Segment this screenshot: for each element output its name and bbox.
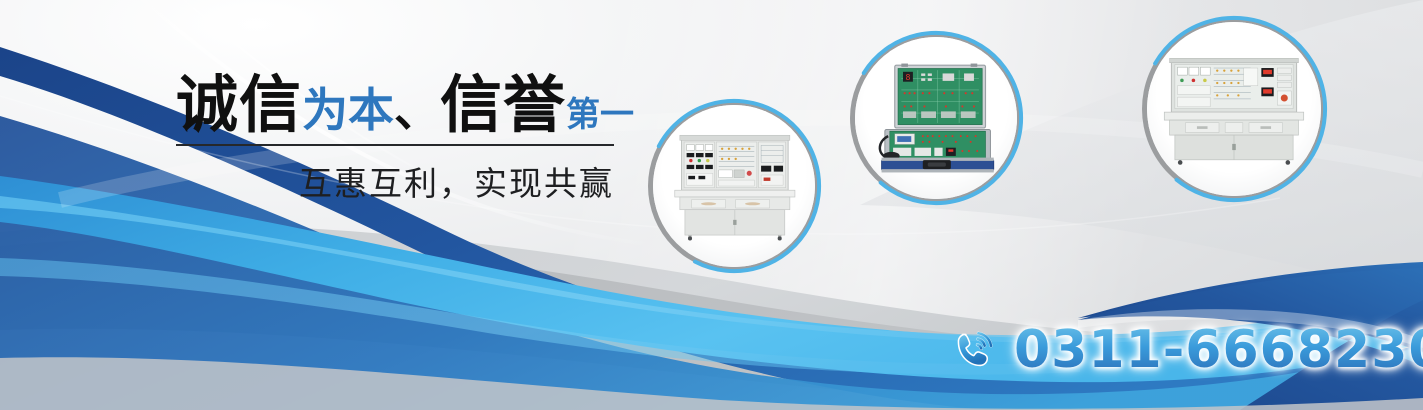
- headline-part-4: 第一: [566, 95, 634, 135]
- headline-part-2: 为本: [302, 83, 394, 137]
- headline: 诚信为本、信誉第一: [176, 74, 634, 136]
- subtitle: 互惠互利，实现共赢: [176, 157, 614, 205]
- product-circle-3-outer-ring: [1134, 9, 1334, 209]
- product-circle-1-outer-ring: [640, 92, 828, 280]
- contact-phone[interactable]: 0311-66682303: [952, 320, 1423, 380]
- product-circle-2-outer-ring: [842, 24, 1030, 212]
- headline-part-1: 诚信: [176, 68, 302, 141]
- headline-divider: [176, 144, 614, 146]
- headline-punctuation: 、: [394, 83, 440, 137]
- promo-banner: 诚信为本、信誉第一 互惠互利，实现共赢: [0, 0, 1423, 410]
- phone-call-icon: [952, 327, 998, 373]
- phone-number[interactable]: 0311-66682303: [1014, 320, 1423, 380]
- headline-part-3: 信誉: [440, 68, 566, 141]
